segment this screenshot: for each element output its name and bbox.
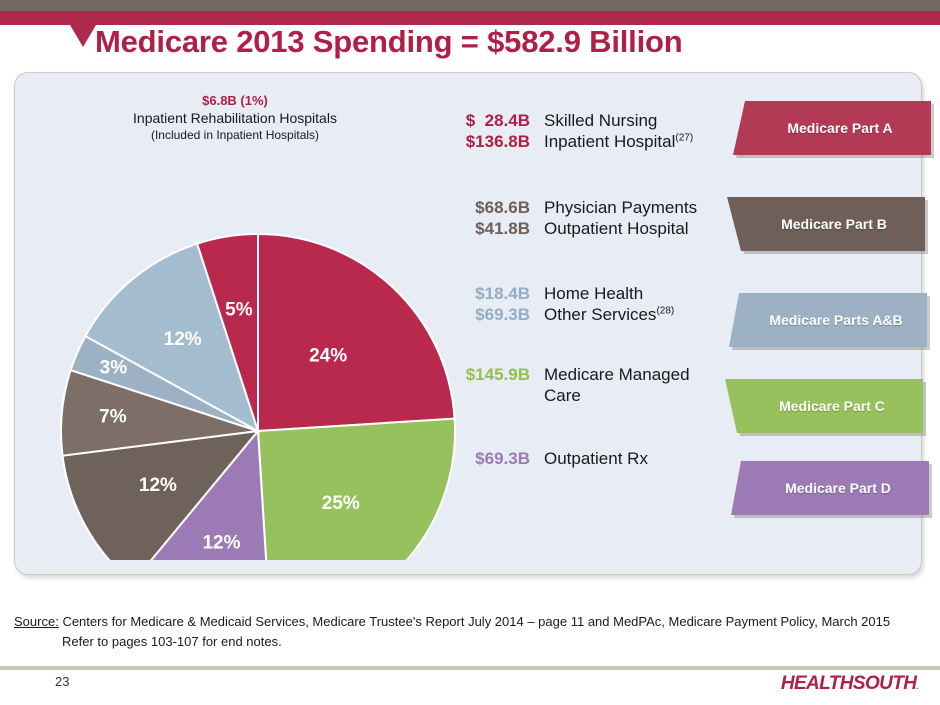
annotation-line-1: Inpatient Rehabilitation Hospitals <box>45 110 425 128</box>
legend-description: Skilled Nursing <box>530 111 657 132</box>
chart-card: $6.8B (1%) Inpatient Rehabilitation Hosp… <box>14 72 922 575</box>
legend-row: $ 28.4BSkilled Nursing <box>438 111 728 132</box>
pie-slice <box>258 419 455 560</box>
legend-row: $69.3BOther Services(28) <box>438 305 728 326</box>
pie-chart: 24%25%12%12%7%3%12%5% <box>47 160 467 560</box>
logo-registered-mark: . <box>916 682 918 691</box>
pie-slice-label: 3% <box>100 357 128 378</box>
legend-group: $ 28.4BSkilled Nursing$136.8BInpatient H… <box>438 111 728 152</box>
legend-footnote-marker: (28) <box>656 305 674 316</box>
legend-amount: $68.6B <box>438 198 530 219</box>
part-banner-shape <box>725 379 929 439</box>
part-banner: Medicare Part A <box>733 101 923 155</box>
pie-slice <box>258 234 455 431</box>
source-note: Source: Centers for Medicare & Medicaid … <box>14 612 924 652</box>
legend-amount: $ 28.4B <box>438 111 530 132</box>
source-line-1: Centers for Medicare & Medicaid Services… <box>62 614 890 629</box>
pie-annotation: $6.8B (1%) Inpatient Rehabilitation Hosp… <box>45 93 425 143</box>
legend-footnote-marker: (27) <box>675 132 693 143</box>
source-label: Source: <box>14 614 59 629</box>
top-accent-bar-taupe <box>0 0 940 11</box>
pie-slice-label: 25% <box>322 493 360 514</box>
part-banner-shape <box>731 461 935 521</box>
legend-row: $145.9BMedicare Managed Care <box>438 365 728 406</box>
part-banner-shape <box>729 293 933 353</box>
pie-slice-label: 24% <box>309 345 347 366</box>
healthsouth-logo: HEALTHSOUTH. <box>781 673 918 695</box>
legend-amount: $41.8B <box>438 219 530 240</box>
part-banner: Medicare Part B <box>727 197 923 251</box>
page-title: Medicare 2013 Spending = $582.9 Billion <box>95 24 682 60</box>
part-banner-shape <box>727 197 931 257</box>
legend-row: $136.8BInpatient Hospital(27) <box>438 132 728 153</box>
part-banner-shape <box>733 101 937 161</box>
source-line-2: Refer to pages 103-107 for end notes. <box>14 632 924 652</box>
logo-text: HEALTHSOUTH <box>781 673 917 694</box>
legend-amount: $18.4B <box>438 284 530 305</box>
pie-slice-label: 12% <box>202 532 240 553</box>
annotation-line-2: (Included in Inpatient Hospitals) <box>45 128 425 143</box>
annotation-value: $6.8B (1%) <box>45 93 425 110</box>
pie-slice-label: 12% <box>139 475 177 496</box>
legend-row: $68.6BPhysician Payments <box>438 198 728 219</box>
legend-description: Inpatient Hospital(27) <box>530 132 693 153</box>
legend: $ 28.4BSkilled Nursing$136.8BInpatient H… <box>438 111 728 470</box>
page-number: 23 <box>55 674 69 689</box>
legend-amount: $145.9B <box>438 365 530 386</box>
legend-description: Outpatient Hospital <box>530 219 689 240</box>
legend-amount: $136.8B <box>438 132 530 153</box>
legend-group: $145.9BMedicare Managed Care <box>438 365 728 406</box>
legend-description: Physician Payments <box>530 198 697 219</box>
legend-row: $41.8BOutpatient Hospital <box>438 219 728 240</box>
part-banner: Medicare Parts A&B <box>729 293 923 347</box>
legend-row: $69.3BOutpatient Rx <box>438 449 728 470</box>
legend-group: $18.4BHome Health$69.3BOther Services(28… <box>438 284 728 325</box>
top-accent-bar-crimson <box>0 11 940 25</box>
title-pointer-triangle-icon <box>70 25 96 47</box>
part-banners: Medicare Part AMedicare Part BMedicare P… <box>733 101 923 515</box>
legend-description: Outpatient Rx <box>530 449 648 470</box>
legend-description: Medicare Managed Care <box>530 365 728 406</box>
legend-description: Home Health <box>530 284 643 305</box>
pie-slice-label: 5% <box>225 299 253 320</box>
pie-slice-label: 12% <box>164 329 202 350</box>
legend-group: $69.3BOutpatient Rx <box>438 449 728 470</box>
legend-amount: $69.3B <box>438 449 530 470</box>
legend-row: $18.4BHome Health <box>438 284 728 305</box>
footer-rule <box>0 666 940 670</box>
legend-description: Other Services(28) <box>530 305 674 326</box>
pie-slice-label: 7% <box>99 406 127 427</box>
part-banner: Medicare Part D <box>731 461 923 515</box>
pie-chart-svg: 24%25%12%12%7%3%12%5% <box>47 160 467 560</box>
legend-amount: $69.3B <box>438 305 530 326</box>
legend-group: $68.6BPhysician Payments$41.8BOutpatient… <box>438 198 728 239</box>
part-banner: Medicare Part C <box>725 379 923 433</box>
